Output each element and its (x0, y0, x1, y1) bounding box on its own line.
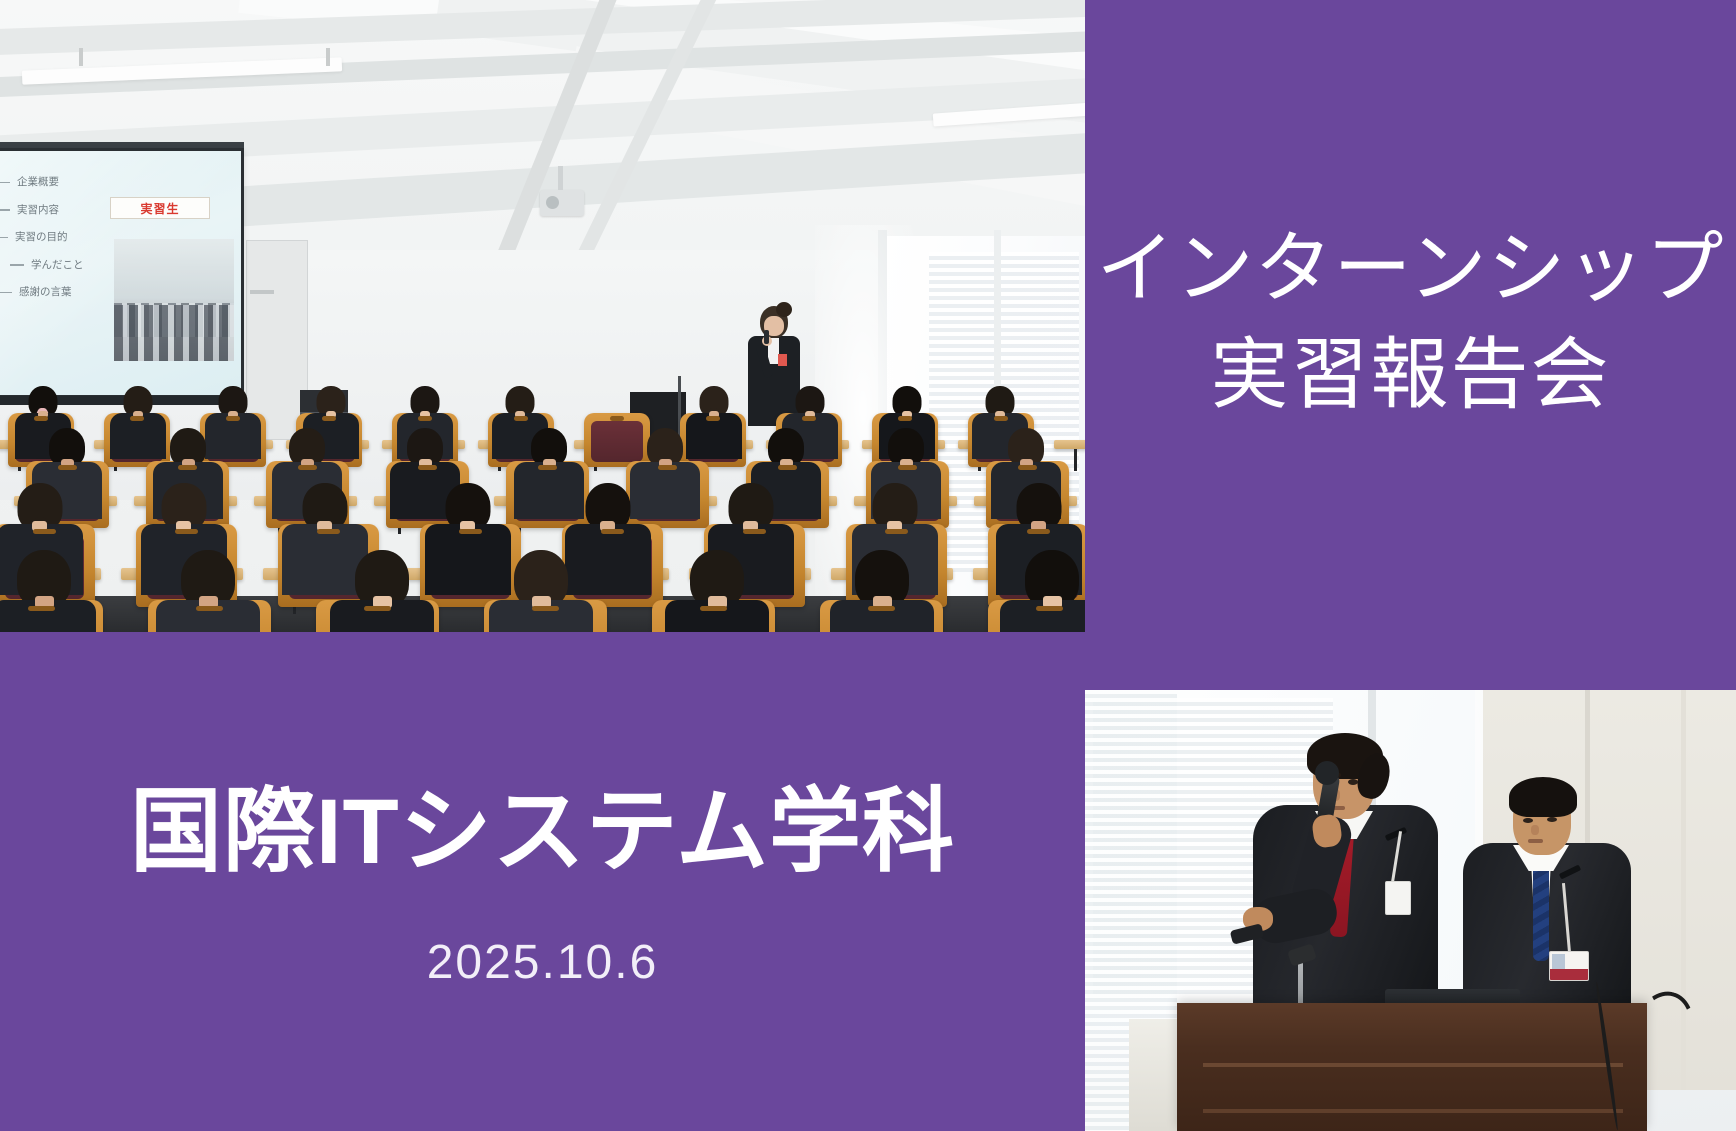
chair-handle-slot (778, 465, 796, 470)
speaker-with-microphone (1235, 735, 1450, 1015)
podium-scene (1085, 690, 1736, 1131)
event-title-line1: インターンシップ (1085, 222, 1736, 314)
slide-bullet: 企業概要 (0, 177, 118, 188)
ceiling-hook (326, 48, 330, 66)
podium-trim (1203, 1109, 1623, 1113)
bullet-dash-icon (0, 292, 12, 294)
slide-sign: 実習生 (110, 197, 210, 219)
department-text-block: 国際ITシステム学科 2025.10.6 (0, 782, 1085, 990)
badge-photo (1552, 954, 1565, 970)
desk-leg (1074, 449, 1077, 471)
slide-bullet: 実習の目的 (0, 232, 118, 243)
microphone-head (1315, 761, 1339, 785)
department-panel: 国際ITシステム学科 2025.10.6 (0, 632, 1085, 1131)
slide-inset-photo (114, 239, 234, 361)
poster-root: 実習生 企業概要 実習内容 実習の目的 学んだこと 感謝の言葉 (0, 0, 1736, 1131)
hall-scene: 実習生 企業概要 実習内容 実習の目的 学んだこと 感謝の言葉 (0, 0, 1085, 632)
slide-bullet-label: 実習内容 (17, 205, 59, 216)
chair-handle-slot (700, 606, 727, 611)
audience-member (0, 550, 98, 632)
event-title-line2: 実習報告会 (1085, 328, 1736, 420)
speaker-b-eye (1547, 817, 1557, 822)
podium-trim (1203, 1063, 1623, 1067)
title-panel: インターンシップ 実習報告会 (1085, 0, 1736, 690)
ceiling-hook (79, 48, 83, 66)
bullet-dash-icon (10, 264, 24, 266)
slide-bullet-list: 企業概要 実習内容 実習の目的 学んだこと 感謝の言葉 (0, 177, 118, 315)
speaker-standing-right (1455, 775, 1645, 1015)
presenter-hair-bun (776, 302, 792, 317)
chair-handle-slot (178, 465, 196, 470)
chair-handle-slot (196, 606, 223, 611)
bullet-dash-icon (0, 182, 10, 184)
chair-handle-slot (33, 529, 55, 534)
door-handle (250, 290, 274, 294)
chair-handle-slot (418, 416, 433, 421)
chair-handle-slot (28, 606, 55, 611)
chair-handle-slot (743, 529, 765, 534)
slide-bullet-label: 企業概要 (17, 177, 59, 188)
chair-handle-slot (538, 465, 556, 470)
slide-bullet: 実習内容 (0, 205, 118, 216)
chair-handle-slot (58, 465, 76, 470)
speaker-b-hair (1509, 777, 1577, 817)
speaker-b-nose (1531, 825, 1539, 835)
slide-bullet: 感謝の言葉 (0, 287, 118, 298)
chair-handle-slot (175, 529, 197, 534)
slide-bullet-label: 感謝の言葉 (19, 287, 72, 298)
presenter-microphone (764, 330, 769, 344)
speaker-b-mouth (1528, 839, 1543, 843)
slide-bullet: 学んだこと (0, 260, 118, 271)
slide-sign-label: 実習生 (140, 200, 179, 217)
podium-photo (1085, 690, 1736, 1131)
chair-handle-slot (514, 416, 529, 421)
chair-handle-slot (601, 529, 623, 534)
audience-member (487, 550, 595, 632)
slide-photo-row (114, 305, 234, 361)
audience-member (328, 550, 436, 632)
projection-screen: 実習生 企業概要 実習内容 実習の目的 学んだこと 感謝の言葉 (0, 148, 244, 398)
chair-handle-slot (1036, 606, 1063, 611)
chair-handle-slot (610, 416, 625, 421)
chair-handle-slot (658, 465, 676, 470)
bullet-dash-icon (0, 237, 8, 239)
audience-seating (0, 380, 1085, 632)
title-text-block: インターンシップ 実習報告会 (1085, 222, 1736, 420)
chair-handle-slot (898, 465, 916, 470)
speaker-b-eye (1523, 818, 1533, 823)
audience-member (154, 550, 262, 632)
slide-bullet-label: 実習の目的 (15, 232, 68, 243)
chair-handle-slot (994, 416, 1009, 421)
speaker-a-name-badge (1385, 881, 1411, 915)
chair-handle-slot (34, 416, 49, 421)
chair-handle-slot (418, 465, 436, 470)
speaker-a-eye (1348, 779, 1358, 785)
podium-side-panel (1129, 1019, 1181, 1131)
event-date: 2025.10.6 (0, 937, 1085, 990)
lecture-hall-photo: 実習生 企業概要 実習内容 実習の目的 学んだこと 感謝の言葉 (0, 0, 1085, 632)
badge-stripe (1550, 969, 1588, 980)
speaker-b-name-badge (1549, 951, 1589, 981)
chair-handle-slot (298, 465, 316, 470)
chair-handle-slot (317, 529, 339, 534)
chair-handle-slot (532, 606, 559, 611)
chair-handle-slot (885, 529, 907, 534)
chair-handle-slot (1018, 465, 1036, 470)
chair-handle-slot (868, 606, 895, 611)
chair-handle-slot (364, 606, 391, 611)
chair-handle-slot (459, 529, 481, 534)
audience-member (663, 550, 771, 632)
chair-handle-slot (1027, 529, 1049, 534)
bullet-dash-icon (0, 209, 10, 211)
chair-handle-slot (706, 416, 721, 421)
projector-lens (546, 196, 559, 209)
chair-handle-slot (226, 416, 241, 421)
chair-handle-slot (898, 416, 913, 421)
presenter-badge (778, 354, 787, 366)
chair-handle-slot (322, 416, 337, 421)
slide-bullet-label: 学んだこと (31, 260, 84, 271)
department-name: 国際ITシステム学科 (0, 782, 1085, 883)
chair-handle-slot (130, 416, 145, 421)
audience-member (998, 550, 1085, 632)
chair-handle-slot (802, 416, 817, 421)
audience-member (828, 550, 936, 632)
